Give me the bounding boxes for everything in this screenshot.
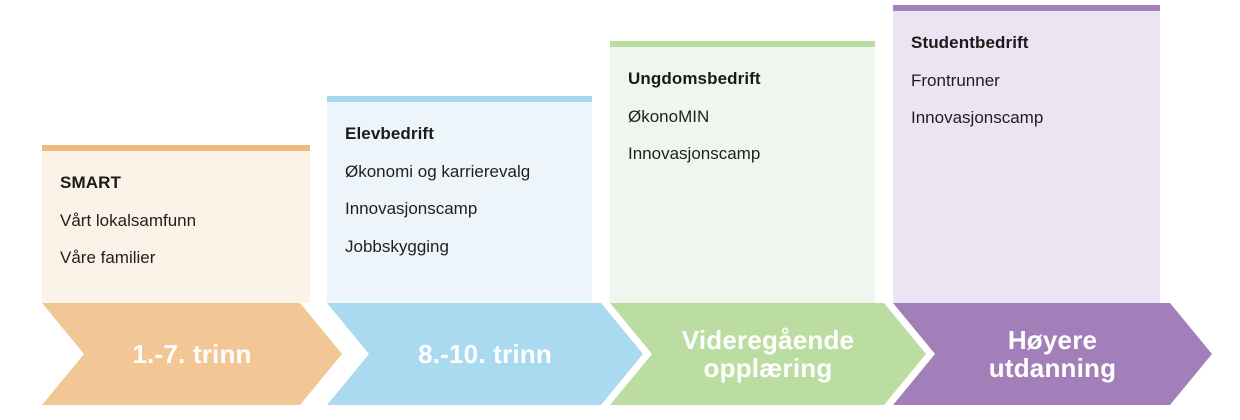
card-item-4-1: Frontrunner — [911, 71, 1142, 91]
card-title-3: Ungdomsbedrift — [628, 69, 857, 89]
card-item-3-2: Innovasjonscamp — [628, 144, 857, 164]
card-title-1: SMART — [60, 173, 292, 193]
card-item-4-2: Innovasjonscamp — [911, 108, 1142, 128]
card-body-4: Studentbedrift Frontrunner Innovasjonsca… — [893, 11, 1160, 303]
card-item-2-3: Jobbskygging — [345, 237, 574, 257]
stage-chevron-4[interactable]: Høyere utdanning — [893, 303, 1212, 405]
card-title-2: Elevbedrift — [345, 124, 574, 144]
stage-chevron-label-3: Videregående opplæring — [676, 326, 860, 382]
card-body-1: SMART Vårt lokalsamfunn Våre familier — [42, 151, 310, 303]
card-item-1-1: Vårt lokalsamfunn — [60, 211, 292, 231]
card-item-2-1: Økonomi og karrierevalg — [345, 162, 574, 182]
stage-chevron-label-1: 1.-7. trinn — [126, 340, 257, 368]
stage-chevron-2[interactable]: 8.-10. trinn — [327, 303, 643, 405]
stage-chevron-3[interactable]: Videregående opplæring — [610, 303, 926, 405]
stage-chevron-label-2: 8.-10. trinn — [412, 340, 558, 368]
stage-card-2: Elevbedrift Økonomi og karrierevalg Inno… — [327, 96, 592, 303]
card-item-3-1: ØkonoMIN — [628, 107, 857, 127]
card-body-2: Elevbedrift Økonomi og karrierevalg Inno… — [327, 102, 592, 303]
progression-diagram: SMART Vårt lokalsamfunn Våre familier El… — [0, 0, 1240, 420]
stage-card-3: Ungdomsbedrift ØkonoMIN Innovasjonscamp — [610, 41, 875, 303]
card-title-4: Studentbedrift — [911, 33, 1142, 53]
stage-card-1: SMART Vårt lokalsamfunn Våre familier — [42, 145, 310, 303]
stage-chevron-label-4: Høyere utdanning — [983, 326, 1122, 382]
card-body-3: Ungdomsbedrift ØkonoMIN Innovasjonscamp — [610, 47, 875, 303]
card-item-2-2: Innovasjonscamp — [345, 199, 574, 219]
stage-chevron-1[interactable]: 1.-7. trinn — [42, 303, 342, 405]
stage-card-4: Studentbedrift Frontrunner Innovasjonsca… — [893, 5, 1160, 303]
card-item-1-2: Våre familier — [60, 248, 292, 268]
